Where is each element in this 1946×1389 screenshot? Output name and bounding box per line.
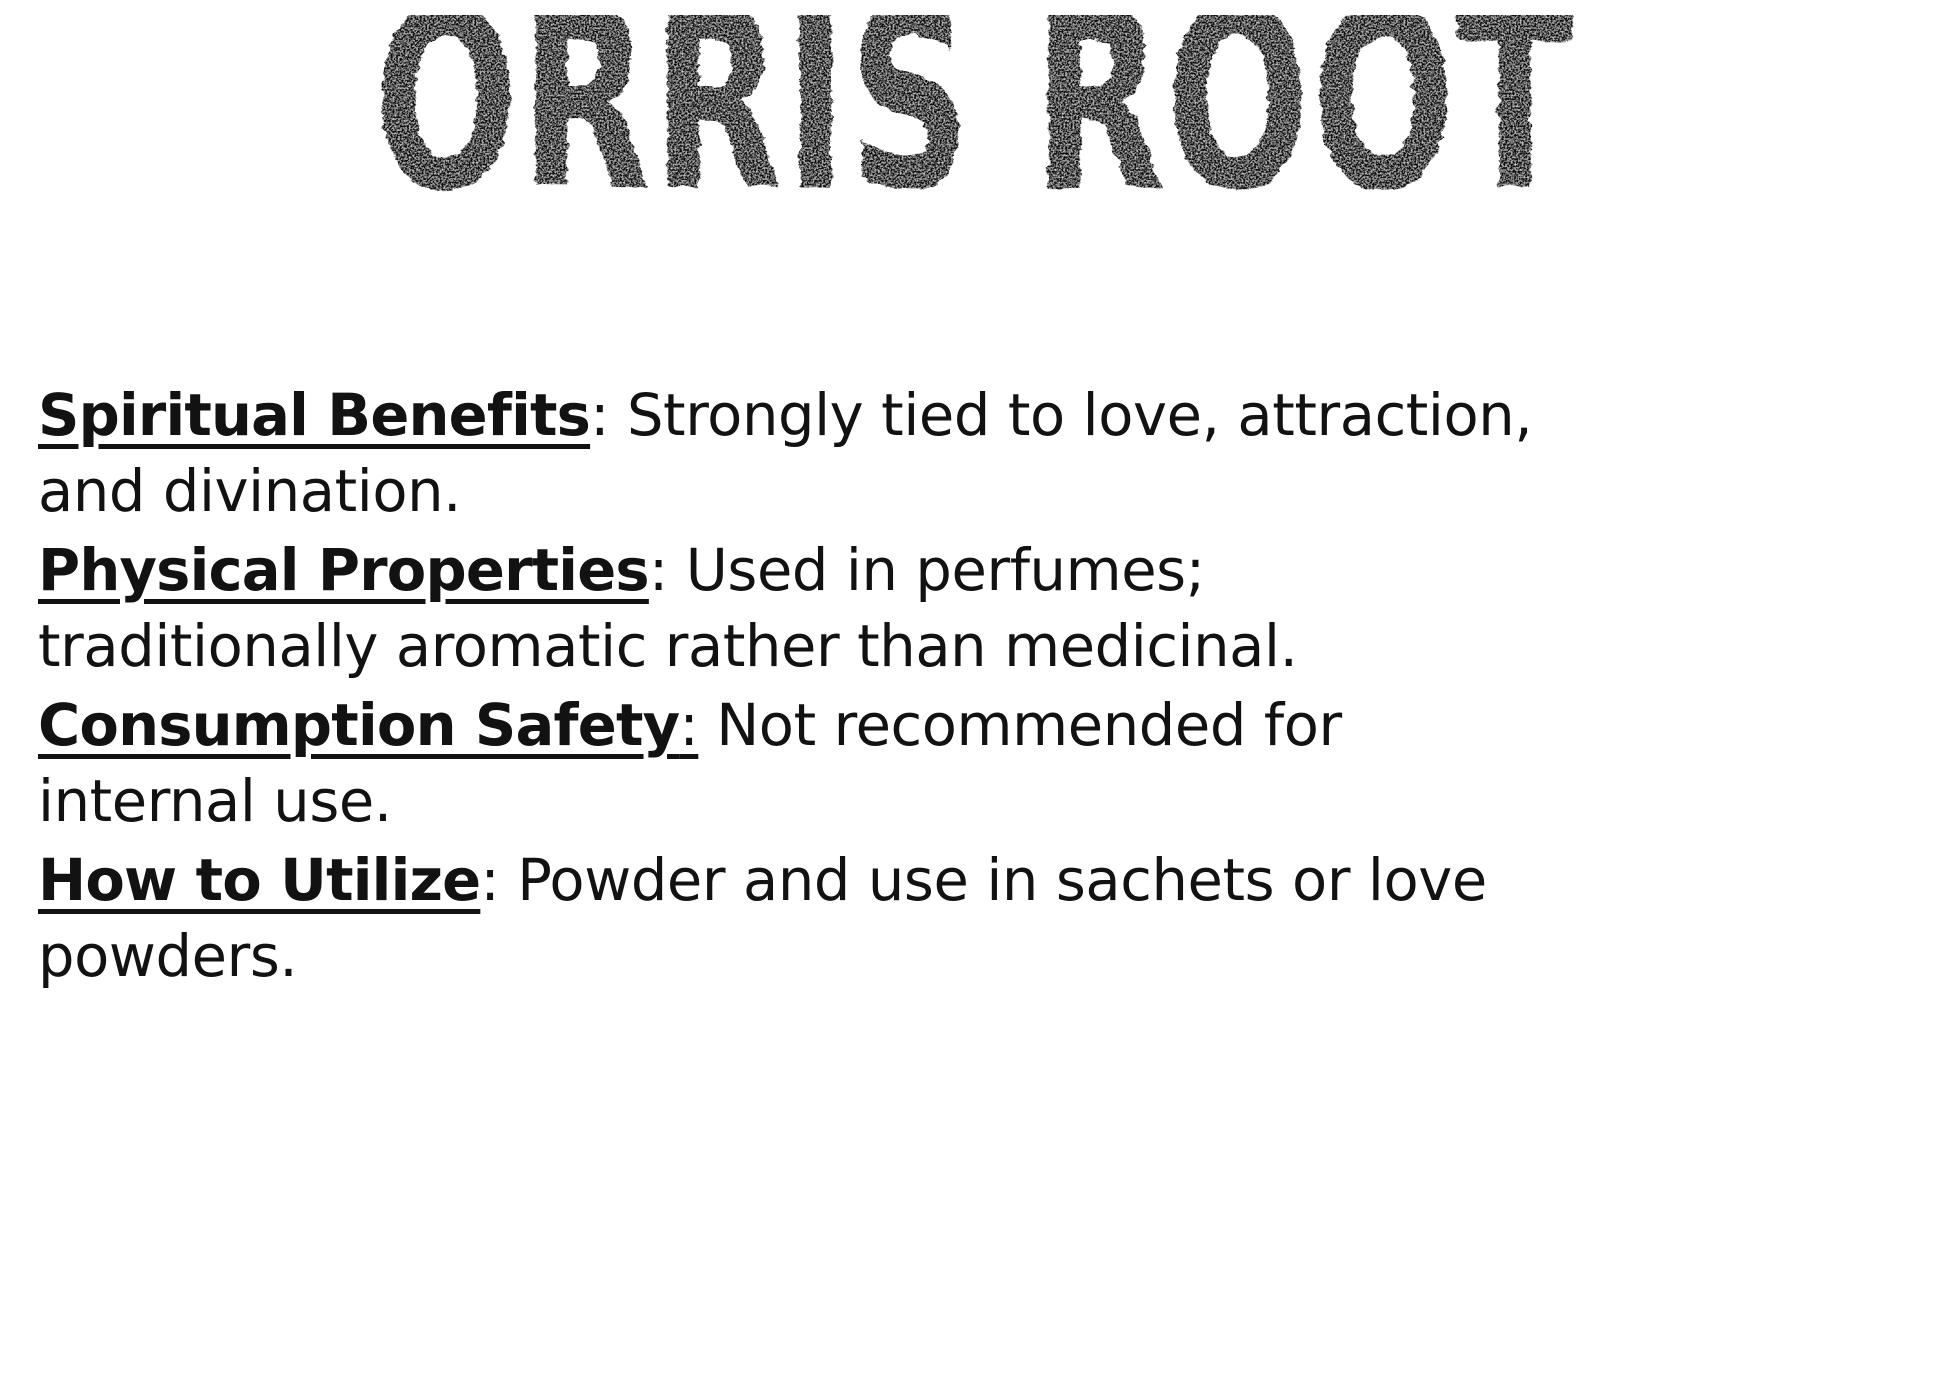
title-grunge-svg: ORRIS ROOT	[273, 15, 1673, 245]
title-text: ORRIS ROOT	[373, 15, 1573, 245]
entry-separator: :	[590, 382, 609, 449]
entry-separator: :	[679, 692, 698, 759]
entry-label: Consumption Safety	[38, 692, 679, 759]
herb-info-card: ORRIS ROOT Spiritual Benefits: Strongly …	[0, 0, 1946, 1389]
entry-physical-properties: Physical Properties: Used in perfumes; t…	[38, 533, 1558, 686]
entry-consumption-safety: Consumption Safety: Not recommended for …	[38, 688, 1558, 841]
entry-label: Physical Properties	[38, 537, 649, 604]
entry-label: How to Utilize	[38, 847, 480, 914]
entry-separator: :	[480, 847, 499, 914]
entries-list: Spiritual Benefits: Strongly tied to lov…	[38, 378, 1558, 998]
entry-how-to-utilize: How to Utilize: Powder and use in sachet…	[38, 843, 1558, 996]
page-title: ORRIS ROOT	[0, 10, 1946, 250]
entry-spiritual-benefits: Spiritual Benefits: Strongly tied to lov…	[38, 378, 1558, 531]
entry-separator: :	[649, 537, 668, 604]
entry-label: Spiritual Benefits	[38, 382, 590, 449]
